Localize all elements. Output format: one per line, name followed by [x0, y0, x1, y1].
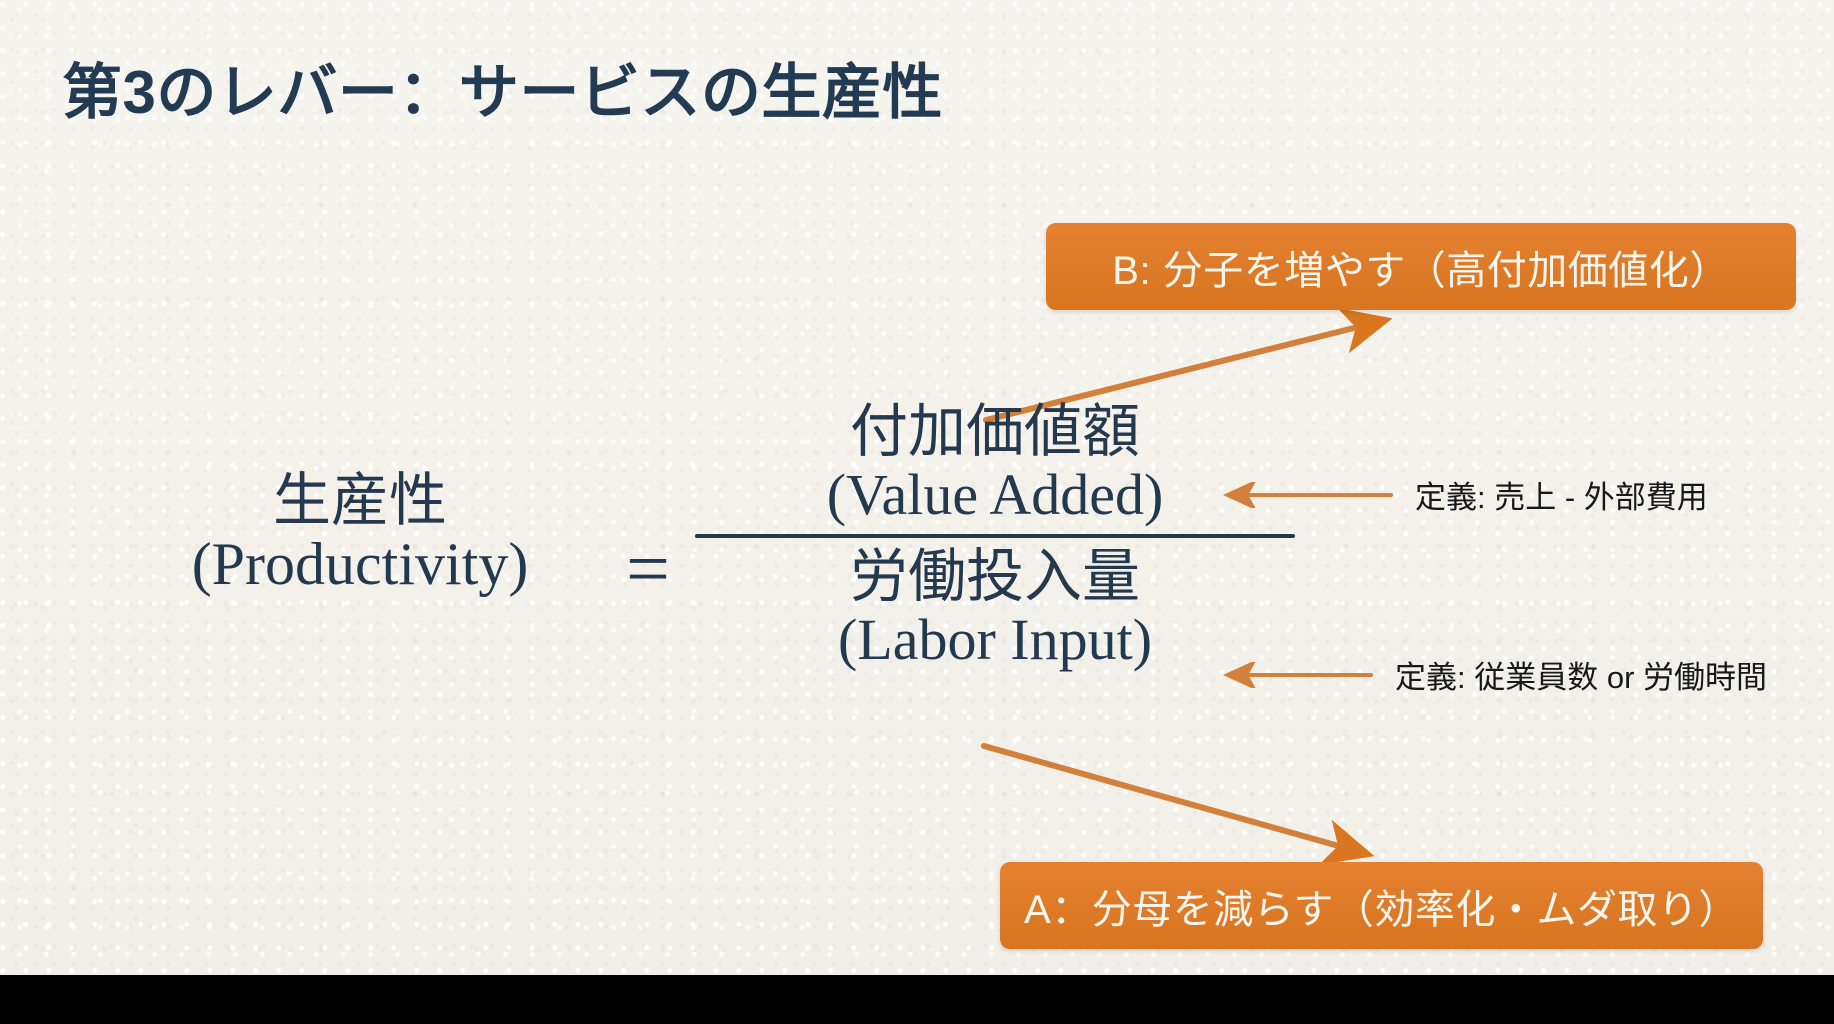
banner-increase-numerator[interactable]: B: 分子を増やす（高付加価値化）: [1046, 223, 1796, 310]
annotation-labor-input-text: 定義: 従業員数 or 労働時間: [1395, 652, 1767, 697]
productivity-jp: 生産性: [120, 470, 600, 533]
labor-input-jp: 労働投入量: [695, 544, 1295, 610]
banner-reduce-denominator[interactable]: A：分母を減らす（効率化・ムダ取り）: [1000, 862, 1763, 949]
fraction-numerator: 付加価値額 (Value Added): [695, 400, 1295, 524]
banner-a-label: A：分母を減らす（効率化・ムダ取り）: [1024, 877, 1739, 935]
annotation-value-added-text: 定義: 売上 - 外部費用: [1415, 472, 1708, 517]
annotation-labor-input: 定義: 従業員数 or 労働時間: [1223, 652, 1767, 697]
formula-fraction: 付加価値額 (Value Added) 労働投入量 (Labor Input): [695, 400, 1295, 669]
value-added-jp: 付加価値額: [695, 400, 1295, 465]
page-title: 第3のレバー：サービスの生産性: [62, 44, 943, 131]
equals-sign: =: [608, 530, 688, 608]
annotation-value-added: 定義: 売上 - 外部費用: [1223, 472, 1708, 517]
formula-left-side: 生産性 (Productivity): [120, 470, 600, 596]
banner-b-label: B: 分子を増やす（高付加価値化）: [1112, 238, 1729, 296]
left-arrow-icon: [1223, 482, 1393, 508]
labor-input-en: (Labor Input): [695, 610, 1295, 669]
fraction-denominator: 労働投入量 (Labor Input): [695, 544, 1295, 669]
left-arrow-icon: [1223, 662, 1373, 688]
letterbox-bar-bottom: [0, 975, 1834, 1024]
slide-canvas: 第3のレバー：サービスの生産性 B: 分子を増やす（高付加価値化） A：分母を減…: [0, 0, 1834, 1024]
fraction-bar: [695, 534, 1295, 538]
value-added-en: (Value Added): [695, 465, 1295, 524]
productivity-en: (Productivity): [120, 533, 600, 596]
